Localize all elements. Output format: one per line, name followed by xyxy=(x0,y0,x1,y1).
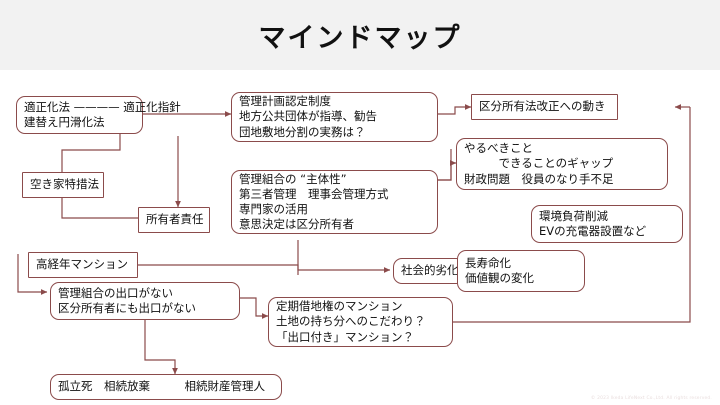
node-kanri-keikaku[interactable]: 管理計画認定制度 地方公共団体が指導、勧告 団地敷地分割の実務は？ xyxy=(231,92,438,142)
node-kanri-kumiai[interactable]: 管理組合の “主体性” 第三者管理 理事会管理方式 専門家の活用 意思決定は区分… xyxy=(231,170,438,234)
wire-deguchi-to-teiki xyxy=(240,298,268,316)
node-shoyusha[interactable]: 所有者責任 xyxy=(138,207,210,233)
node-line: 専門家の活用 xyxy=(239,202,430,217)
node-line: 長寿命化 xyxy=(465,256,577,271)
node-koritsushi[interactable]: 孤立死 相続放棄 相続財産管理人 xyxy=(50,374,282,400)
node-tekiseika[interactable]: 適正化法 ———— 適正化指針 建替え円滑化法 xyxy=(16,96,143,134)
wire-deguchi-to-koritsushi xyxy=(145,318,175,374)
node-line: 所有者責任 xyxy=(146,212,202,227)
wire-to-shakaiteki xyxy=(298,240,390,270)
node-line: 価値観の変化 xyxy=(465,271,577,286)
node-line: 建替え円滑化法 xyxy=(24,115,135,130)
node-line: できることのギャップ xyxy=(464,156,660,171)
node-kankyo[interactable]: 環境負荷削減 EVの充電器設置など xyxy=(531,205,683,243)
node-line: やるべきこと xyxy=(464,141,660,156)
node-deguchi[interactable]: 管理組合の出口がない 区分所有者にも出口がない xyxy=(50,282,240,320)
node-line: 区分所有法改正への動き xyxy=(479,99,610,114)
wire-tekiseika-to-akiya xyxy=(62,132,120,172)
node-line: 社会的劣化 xyxy=(401,263,457,278)
node-line: 管理組合の出口がない xyxy=(58,286,232,301)
node-line: 地方公共団体が指導、勧告 xyxy=(239,109,430,124)
node-line: EVの充電器設置など xyxy=(539,224,675,239)
node-gap[interactable]: やるべきこと できることのギャップ 財政問題 役員のなり手不足 xyxy=(456,138,668,190)
footer-copyright: © 2023 Ikeda LifeNext Co.,Ltd. All right… xyxy=(591,396,712,401)
wire-kanrikeikaku-to-kubunkaisei xyxy=(438,107,471,114)
node-line: 「出口付き」マンション？ xyxy=(276,330,445,345)
node-line: 財政問題 役員のなり手不足 xyxy=(464,172,660,187)
page-title: マインドマップ xyxy=(0,0,720,70)
wire-kanrikumiai-to-gap xyxy=(438,163,456,180)
node-shakaiteki[interactable]: 社会的劣化 xyxy=(393,258,465,284)
node-line: 高経年マンション xyxy=(36,257,130,272)
node-kubun-kaisei[interactable]: 区分所有法改正への動き xyxy=(471,94,618,120)
node-line: 環境負荷削減 xyxy=(539,209,675,224)
wire-kanrikumiai-riser xyxy=(438,149,451,180)
node-chojumyo[interactable]: 長寿命化 価値観の変化 xyxy=(457,250,585,292)
node-akiya[interactable]: 空き家特措法 xyxy=(22,172,104,198)
wire-akiya-to-shoyusha xyxy=(62,198,138,218)
node-line: 孤立死 相続放棄 相続財産管理人 xyxy=(58,379,274,394)
node-line: 管理組合の “主体性” xyxy=(239,172,430,187)
header-bar: マインドマップ xyxy=(0,0,720,70)
node-koukeinen[interactable]: 高経年マンション xyxy=(28,252,138,278)
node-line: 区分所有者にも出口がない xyxy=(58,301,232,316)
mindmap-canvas: 適正化法 ———— 適正化指針 建替え円滑化法 空き家特措法 所有者責任 管理計… xyxy=(0,70,720,405)
node-line: 土地の持ち分へのこだわり？ xyxy=(276,314,445,329)
node-line: 第三者管理 理事会管理方式 xyxy=(239,187,430,202)
node-line: 意思決定は区分所有者 xyxy=(239,217,430,232)
node-line: 管理計画認定制度 xyxy=(239,94,430,109)
wire-koukeinen-right xyxy=(138,265,298,275)
node-line: 適正化法 ———— 適正化指針 xyxy=(24,100,135,115)
node-line: 空き家特措法 xyxy=(30,177,96,192)
node-line: 団地敷地分割の実務は？ xyxy=(239,125,430,140)
node-teiki[interactable]: 定期借地権のマンション 土地の持ち分へのこだわり？ 「出口付き」マンション？ xyxy=(268,297,453,347)
node-line: 定期借地権のマンション xyxy=(276,299,445,314)
